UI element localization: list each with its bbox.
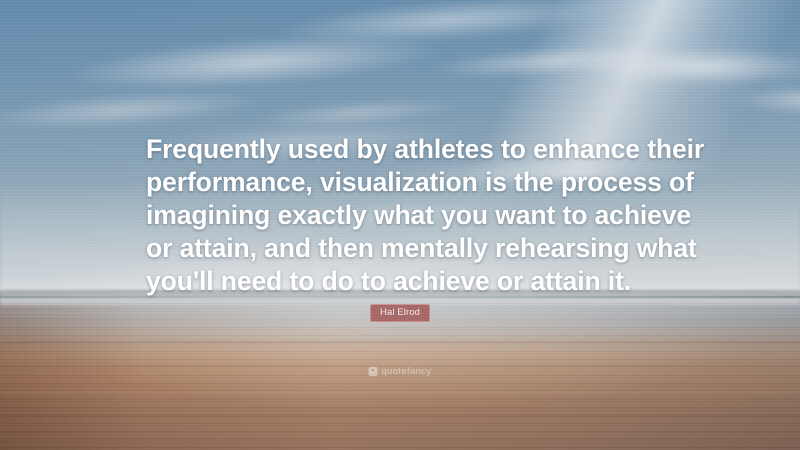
- content-layer: Frequently used by athletes to enhance t…: [0, 0, 800, 450]
- watermark-brand-label: quotefancy: [382, 366, 432, 377]
- quote-line-2: performance, visualization is the proces…: [146, 166, 666, 199]
- quote-line-5: you'll need to do to achieve or attain i…: [146, 265, 666, 298]
- quote-mark-logo-icon: “: [369, 367, 378, 376]
- quote-poster: Frequently used by athletes to enhance t…: [0, 0, 800, 450]
- quote-line-3: imagining exactly what you want to achie…: [146, 199, 666, 232]
- author-badge[interactable]: Hal Elrod: [370, 304, 430, 322]
- quote-line-1: Frequently used by athletes to enhance t…: [146, 133, 666, 166]
- quote-text: Frequently used by athletes to enhance t…: [146, 133, 666, 298]
- watermark[interactable]: “ quotefancy: [369, 366, 432, 377]
- quote-line-4: or attain, and then mentally rehearsing …: [146, 232, 666, 265]
